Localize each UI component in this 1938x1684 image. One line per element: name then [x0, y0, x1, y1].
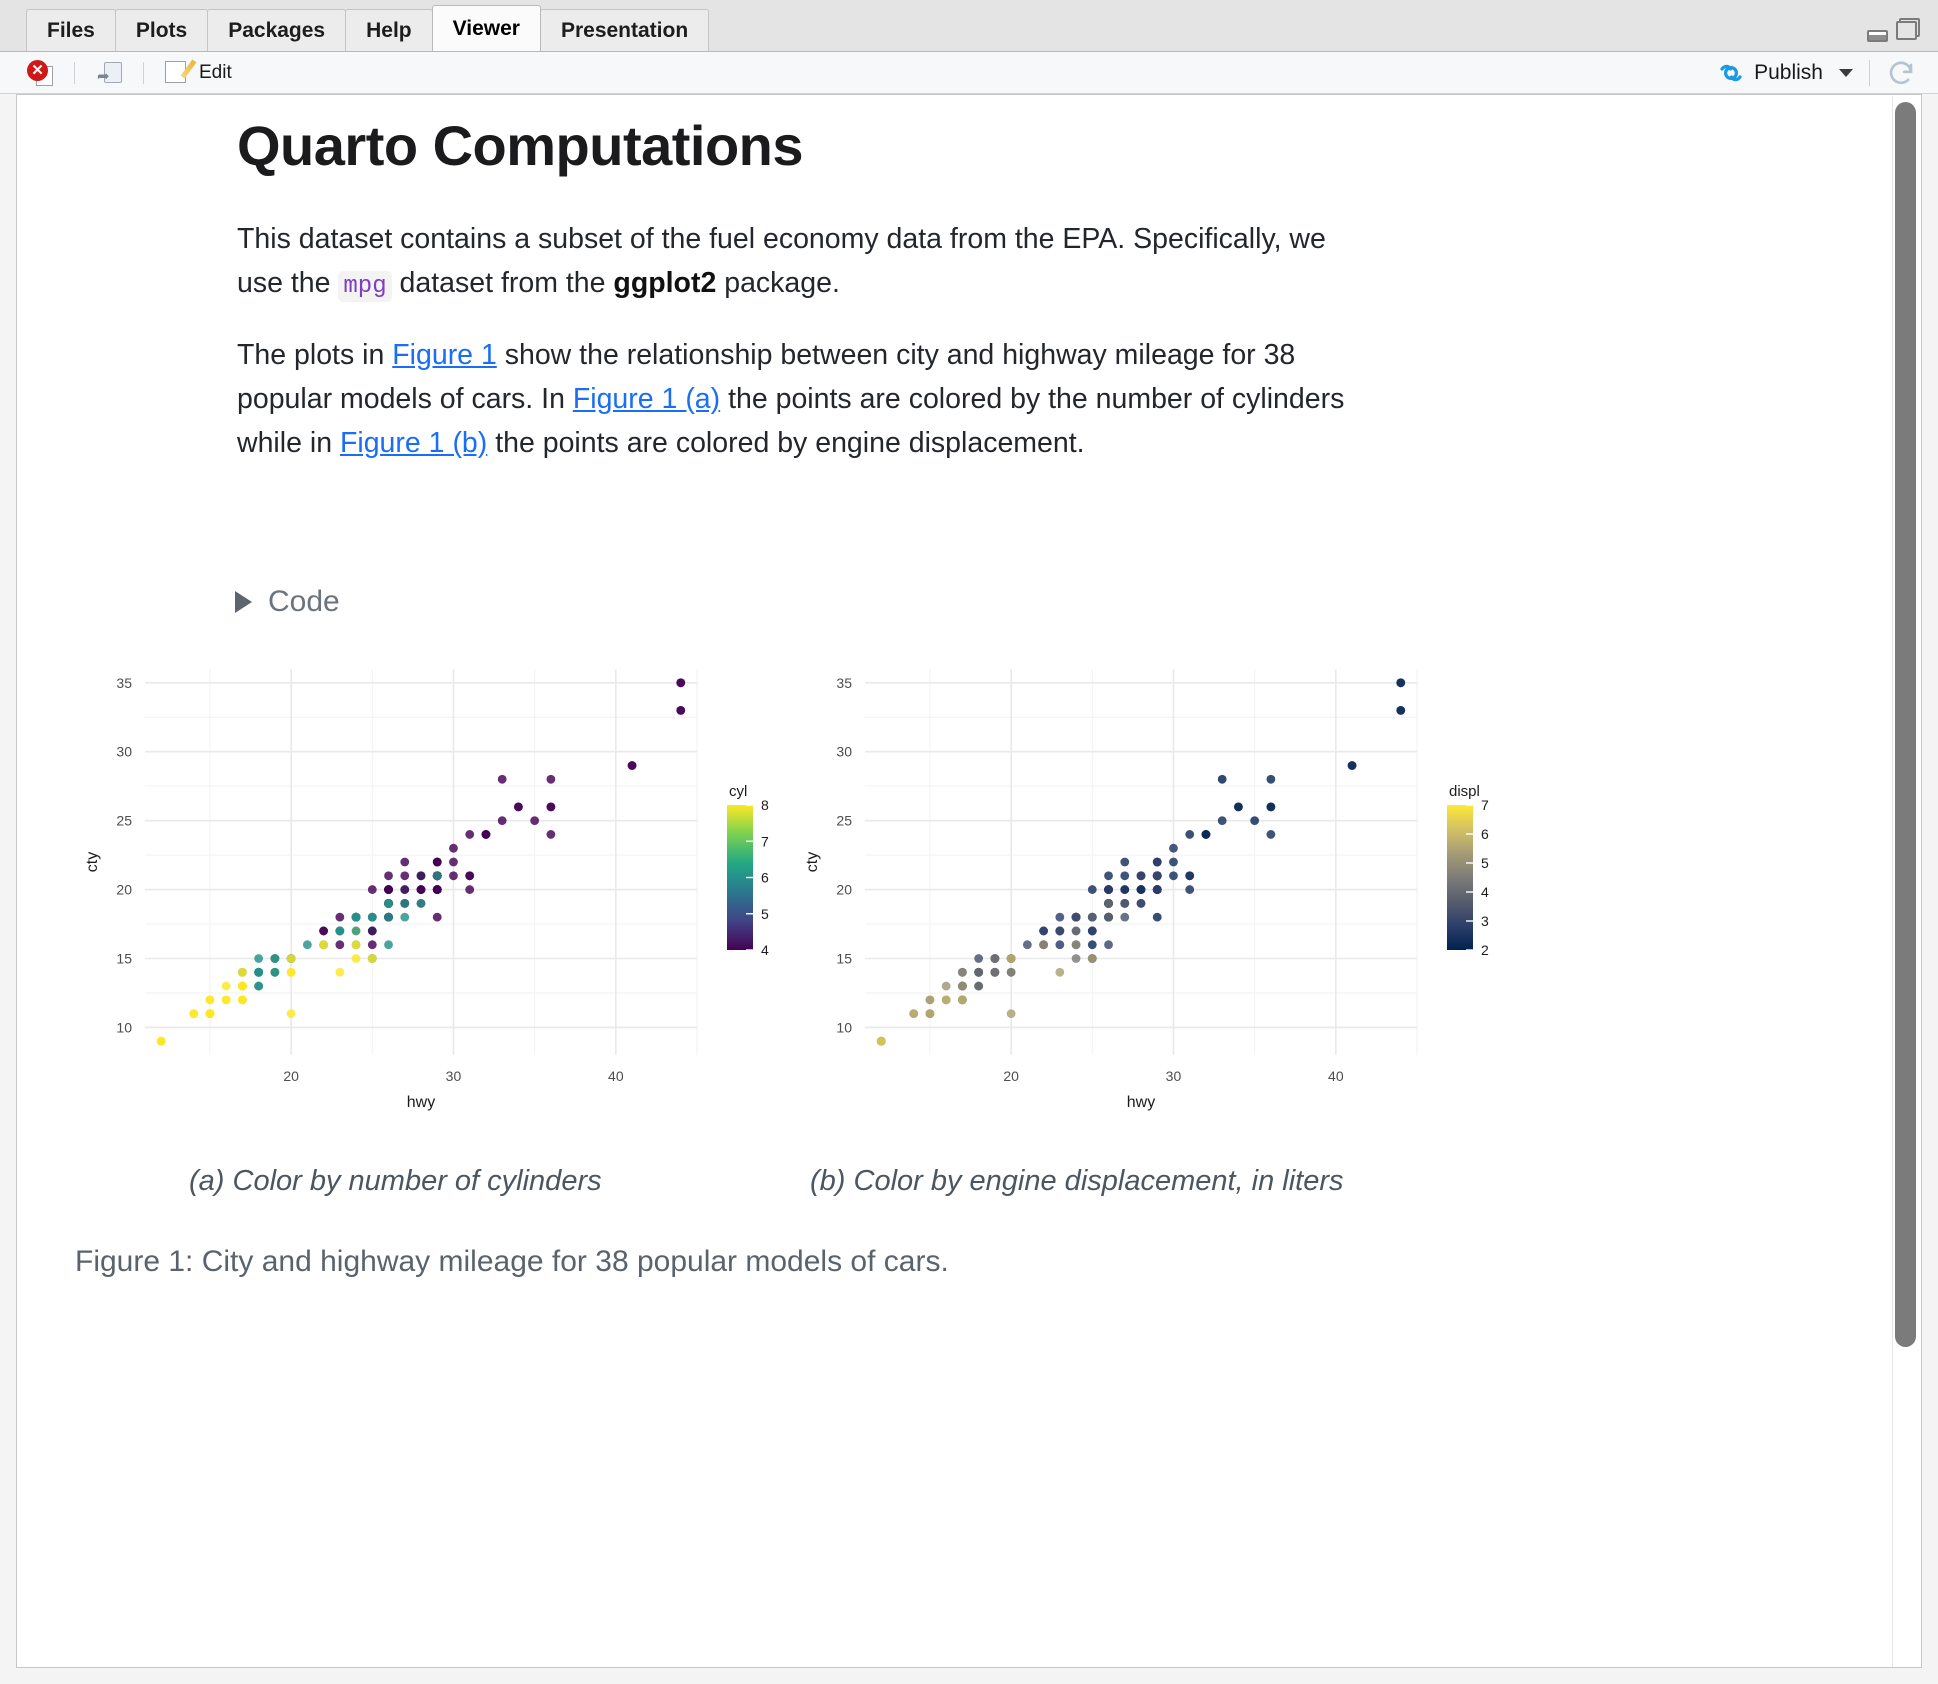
- tab-label: Packages: [228, 19, 325, 43]
- svg-text:40: 40: [1328, 1068, 1344, 1084]
- subcaption-b: (b) Color by engine displacement, in lit…: [810, 1165, 1344, 1198]
- paragraph-text: The plots in: [237, 339, 392, 371]
- paragraph-intro: This dataset contains a subset of the fu…: [237, 217, 1367, 309]
- svg-text:20: 20: [116, 882, 132, 898]
- tab-label: Plots: [136, 19, 187, 43]
- bold-ggplot2: ggplot2: [613, 267, 716, 299]
- scrollbar-thumb[interactable]: [1895, 102, 1916, 1347]
- svg-text:7: 7: [761, 833, 769, 849]
- svg-text:20: 20: [283, 1068, 299, 1084]
- export-icon: ➦: [96, 61, 122, 85]
- svg-text:8: 8: [761, 797, 769, 813]
- remove-plot-button[interactable]: ✕: [20, 58, 60, 88]
- tab-presentation[interactable]: Presentation: [540, 9, 709, 51]
- edit-label: Edit: [199, 62, 232, 84]
- svg-text:cyl: cyl: [729, 783, 747, 800]
- publish-label: Publish: [1754, 61, 1823, 85]
- svg-text:3: 3: [1481, 913, 1489, 929]
- figure-caption: Figure 1: City and highway mileage for 3…: [75, 1245, 949, 1279]
- toolbar-right-group: Publish: [1718, 58, 1938, 88]
- tab-packages[interactable]: Packages: [207, 9, 346, 51]
- toolbar-divider: [143, 62, 144, 84]
- svg-text:6: 6: [761, 870, 769, 886]
- tab-viewer[interactable]: Viewer: [432, 5, 541, 51]
- svg-text:20: 20: [1003, 1068, 1019, 1084]
- tab-label: Help: [366, 19, 412, 43]
- link-figure-1[interactable]: Figure 1: [392, 339, 497, 371]
- paragraph-text: the points are colored by engine displac…: [487, 427, 1084, 459]
- paragraph-text: dataset from the: [392, 267, 614, 299]
- publish-button[interactable]: Publish: [1718, 60, 1853, 86]
- toolbar-divider: [1869, 60, 1870, 86]
- publish-icon: [1718, 60, 1744, 86]
- figure-panel-a: 101520253035203040hwyctycyl45678: [57, 655, 847, 1125]
- export-button[interactable]: ➦: [89, 59, 129, 87]
- toolbar-divider: [74, 62, 75, 84]
- svg-text:2: 2: [1481, 942, 1489, 958]
- rstudio-viewer-pane: Files Plots Packages Help Viewer Present…: [0, 0, 1938, 1684]
- code-fold-label: Code: [268, 585, 340, 619]
- svg-text:15: 15: [836, 951, 852, 967]
- svg-text:4: 4: [1481, 884, 1489, 900]
- triangle-right-icon: [235, 591, 252, 613]
- svg-text:40: 40: [608, 1068, 624, 1084]
- scatter-plot-cyl[interactable]: 101520253035203040hwyctycyl45678: [57, 655, 847, 1125]
- svg-text:7: 7: [1481, 797, 1489, 813]
- svg-text:10: 10: [836, 1019, 852, 1035]
- paragraph-text: package.: [716, 267, 840, 299]
- svg-text:hwy: hwy: [1127, 1094, 1155, 1111]
- svg-text:5: 5: [1481, 855, 1489, 871]
- svg-text:5: 5: [761, 906, 769, 922]
- svg-text:cty: cty: [84, 852, 101, 872]
- tab-label: Presentation: [561, 19, 688, 43]
- tab-plots[interactable]: Plots: [115, 9, 208, 51]
- quarto-document: Quarto Computations This dataset contain…: [17, 95, 1891, 1667]
- tab-help[interactable]: Help: [345, 9, 433, 51]
- figure-panel-b: 101520253035203040hwyctydispl234567: [777, 655, 1567, 1125]
- svg-text:20: 20: [836, 882, 852, 898]
- svg-text:30: 30: [116, 744, 132, 760]
- svg-text:30: 30: [446, 1068, 462, 1084]
- minimize-icon[interactable]: [1867, 30, 1888, 42]
- svg-text:30: 30: [1166, 1068, 1182, 1084]
- vertical-scrollbar[interactable]: [1892, 96, 1920, 1668]
- paragraph-figure-refs: The plots in Figure 1 show the relations…: [237, 333, 1367, 465]
- viewer-toolbar: ✕ ➦ Edit: [0, 52, 1938, 94]
- svg-text:25: 25: [116, 813, 132, 829]
- svg-text:4: 4: [761, 942, 769, 958]
- tab-label: Viewer: [453, 17, 520, 41]
- tab-files[interactable]: Files: [26, 9, 116, 51]
- svg-text:10: 10: [116, 1019, 132, 1035]
- figure-panel-row: 101520253035203040hwyctycyl45678 1015202…: [17, 655, 1891, 1125]
- svg-text:6: 6: [1481, 826, 1489, 842]
- viewer-content-area: Quarto Computations This dataset contain…: [16, 94, 1922, 1668]
- page-title: Quarto Computations: [237, 113, 803, 178]
- scatter-plot-displ[interactable]: 101520253035203040hwyctydispl234567: [777, 655, 1567, 1125]
- maximize-icon[interactable]: [1896, 18, 1920, 40]
- svg-text:displ: displ: [1449, 783, 1480, 800]
- toolbar-left-group: ✕ ➦ Edit: [0, 58, 239, 88]
- svg-text:15: 15: [116, 951, 132, 967]
- pane-tab-bar: Files Plots Packages Help Viewer Present…: [0, 0, 1938, 52]
- inline-code-mpg: mpg: [338, 271, 391, 302]
- refresh-icon[interactable]: [1886, 58, 1916, 88]
- svg-text:25: 25: [836, 813, 852, 829]
- window-controls: [1867, 18, 1920, 40]
- edit-button[interactable]: Edit: [158, 59, 239, 87]
- svg-text:35: 35: [836, 675, 852, 691]
- code-fold-toggle[interactable]: Code: [235, 585, 340, 619]
- edit-icon: [165, 61, 190, 85]
- svg-text:35: 35: [116, 675, 132, 691]
- remove-plot-icon: ✕: [27, 60, 53, 86]
- subcaption-a: (a) Color by number of cylinders: [189, 1165, 602, 1198]
- svg-text:cty: cty: [804, 852, 821, 872]
- svg-text:hwy: hwy: [407, 1094, 435, 1111]
- svg-text:30: 30: [836, 744, 852, 760]
- chevron-down-icon[interactable]: [1839, 69, 1853, 77]
- link-figure-1b[interactable]: Figure 1 (b): [340, 427, 487, 459]
- link-figure-1a[interactable]: Figure 1 (a): [573, 383, 720, 415]
- tab-label: Files: [47, 19, 95, 43]
